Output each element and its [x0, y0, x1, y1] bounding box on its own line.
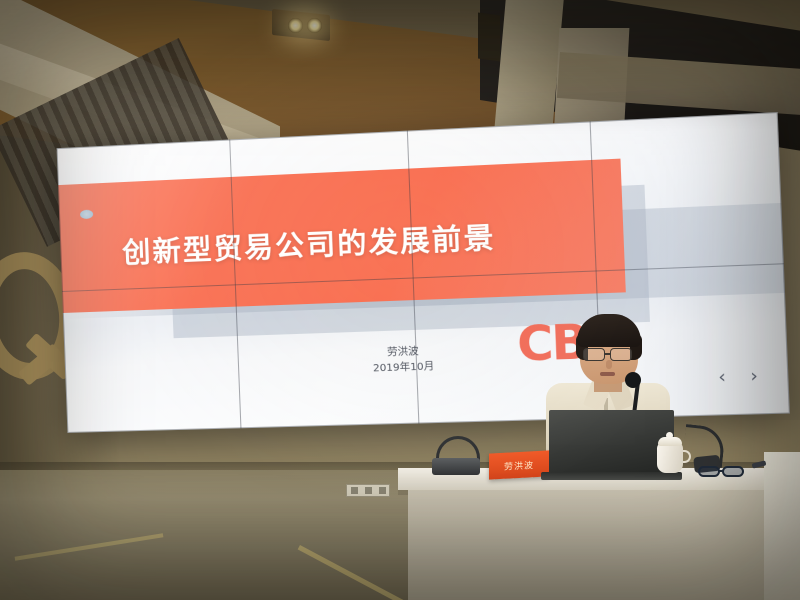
- podium-body: [408, 489, 800, 600]
- spotlight-icon: [307, 18, 322, 33]
- laptop-base[interactable]: [541, 472, 682, 480]
- speaker-mouth: [600, 372, 615, 376]
- teacup[interactable]: [657, 443, 683, 473]
- slide-date: 2019年10月: [373, 359, 435, 376]
- laptop-screen[interactable]: [549, 410, 674, 476]
- presentation-slide[interactable]: 创新型贸易公司的发展前景 劳洪波 2019年10月 C B C ‹ ›: [57, 112, 790, 433]
- slide-navigation[interactable]: ‹ ›: [718, 366, 758, 388]
- eyeglass-lens: [610, 348, 632, 361]
- desk-eyeglass-lens: [722, 466, 744, 477]
- nameplate: 劳洪波: [489, 450, 549, 479]
- speaker-nose: [606, 360, 612, 369]
- brand-logo-letter-1: C: [516, 319, 552, 368]
- wall-outlet-panel[interactable]: [346, 484, 390, 497]
- desk-microphone-base[interactable]: [432, 458, 480, 475]
- outlet-socket-icon: [365, 487, 372, 494]
- teacup-lid-knob: [666, 432, 673, 439]
- outlet-socket-icon: [351, 487, 358, 494]
- spotlight-icon: [288, 18, 303, 33]
- podium-side-panel: [764, 452, 800, 600]
- led-video-wall[interactable]: 创新型贸易公司的发展前景 劳洪波 2019年10月 C B C ‹ ›: [57, 112, 790, 433]
- eyeglass-lens: [583, 348, 605, 361]
- eyeglasses-on-desk-icon[interactable]: [698, 466, 748, 478]
- outlet-socket-icon: [379, 487, 386, 494]
- conference-hall-photo: 创新型贸易公司的发展前景 劳洪波 2019年10月 C B C ‹ ›: [0, 0, 800, 600]
- desk-eyeglass-lens: [698, 466, 720, 477]
- slide-marker-dot-icon: [79, 209, 92, 219]
- next-slide-chevron-icon[interactable]: ›: [750, 366, 758, 387]
- prev-slide-chevron-icon[interactable]: ‹: [718, 367, 726, 388]
- microphone-icon: [625, 372, 641, 388]
- doorway-opening: [478, 12, 500, 61]
- slide-presenter-block: 劳洪波 2019年10月: [372, 344, 434, 377]
